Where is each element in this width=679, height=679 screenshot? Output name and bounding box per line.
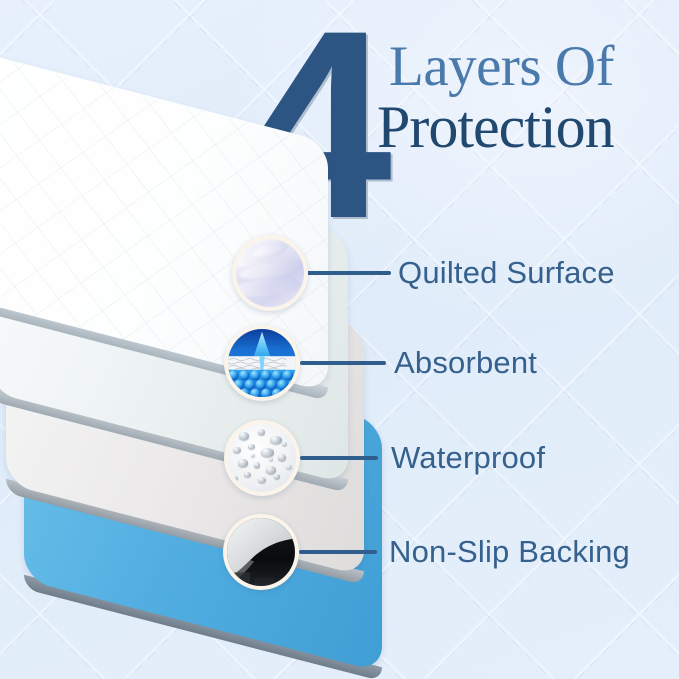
non-slip-art	[227, 518, 295, 586]
icon-clip	[227, 518, 295, 586]
product-infographic: 4 Layers Of Protection	[0, 0, 679, 679]
callout-label-quilted-surface: Quilted Surface	[398, 255, 615, 291]
absorbent-art	[228, 329, 296, 397]
water-droplet-absorption-icon	[224, 325, 300, 401]
layer-stack-illustration	[0, 96, 384, 656]
callout-leader-line	[305, 271, 391, 275]
peeling-black-backing-icon	[223, 514, 299, 590]
beading-water-droplets-icon	[224, 420, 300, 496]
callout-leader-line	[300, 361, 386, 365]
callout-label-waterproof: Waterproof	[391, 440, 545, 476]
quilted-fabric-icon	[232, 235, 308, 311]
icon-clip	[228, 329, 296, 397]
callout-label-absorbent: Absorbent	[394, 345, 537, 381]
icon-clip	[228, 424, 296, 492]
callout-leader-line	[300, 456, 378, 460]
waterproof-art	[228, 424, 296, 492]
callout-leader-line	[299, 550, 377, 554]
quilted-fabric-art	[236, 239, 304, 307]
callout-label-non-slip-backing: Non-Slip Backing	[389, 534, 630, 570]
icon-clip	[236, 239, 304, 307]
